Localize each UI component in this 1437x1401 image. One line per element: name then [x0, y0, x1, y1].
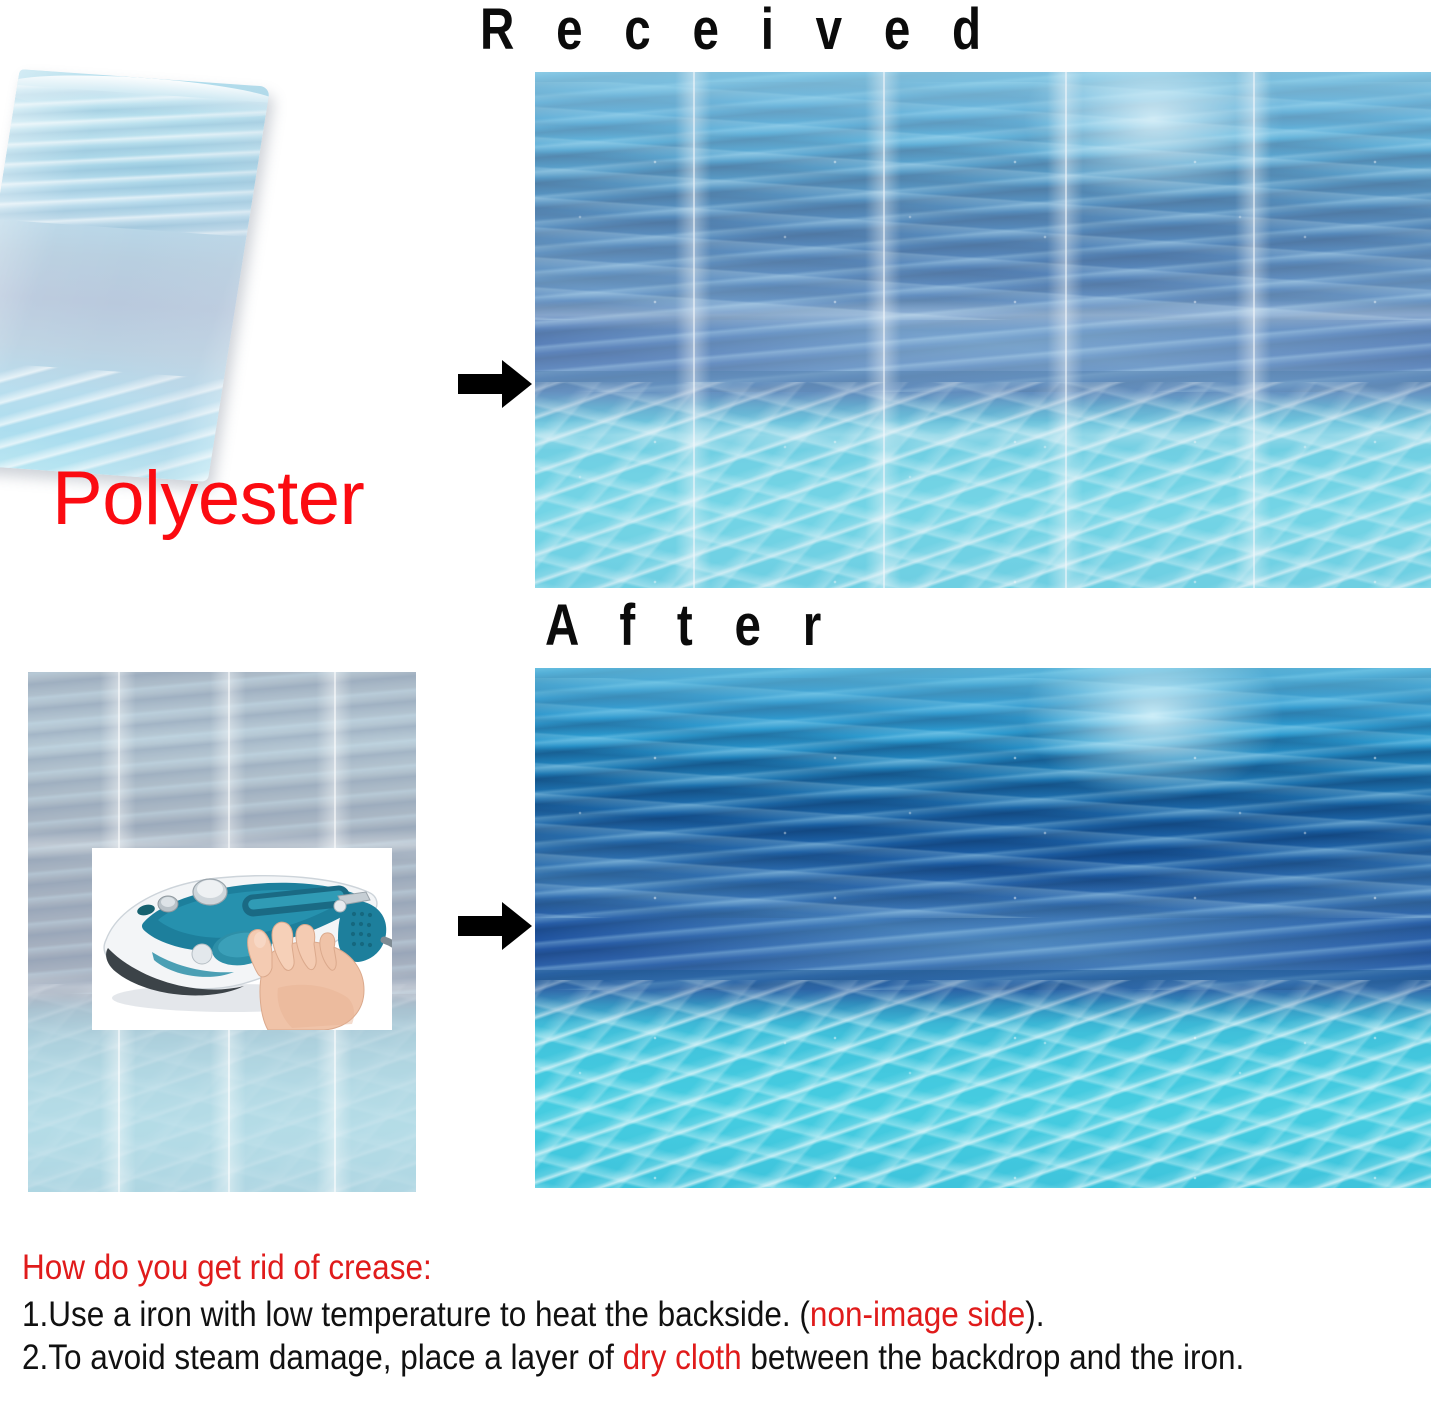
right-arrow-icon — [458, 898, 534, 954]
water-bubbles — [535, 668, 1431, 1188]
right-arrow-icon — [458, 356, 534, 412]
page-title-received: R e c e i v e d — [480, 0, 995, 63]
iron-photo — [92, 848, 392, 1030]
instruction-1-pre: Use a iron with low temperature to heat … — [48, 1295, 810, 1334]
instruction-2-number: 2. — [22, 1338, 48, 1377]
received-backdrop-image — [535, 72, 1431, 588]
material-label-polyester: Polyester — [52, 455, 364, 542]
instructions-block: How do you get rid of crease: 1.Use a ir… — [22, 1248, 1422, 1381]
water-bubbles — [535, 72, 1431, 588]
instruction-2-highlight: dry cloth — [623, 1338, 742, 1377]
page-title-after: A f t e r — [545, 592, 835, 659]
instruction-line-2: 2.To avoid steam damage, place a layer o… — [22, 1338, 1282, 1378]
instruction-1-highlight: non-image side — [810, 1295, 1025, 1334]
after-backdrop-image — [535, 668, 1431, 1188]
fabric-swatch-sheen — [0, 69, 270, 482]
instructions-heading: How do you get rid of crease: — [22, 1248, 1282, 1288]
instruction-1-post: ). — [1025, 1295, 1044, 1334]
instruction-2-pre: To avoid steam damage, place a layer of — [48, 1338, 622, 1377]
iron-button — [192, 944, 212, 964]
instruction-2-post: between the backdrop and the iron. — [742, 1338, 1245, 1377]
instruction-1-number: 1. — [22, 1295, 48, 1334]
instruction-line-1: 1.Use a iron with low temperature to hea… — [22, 1295, 1282, 1335]
fabric-swatch-polyester — [0, 69, 270, 482]
